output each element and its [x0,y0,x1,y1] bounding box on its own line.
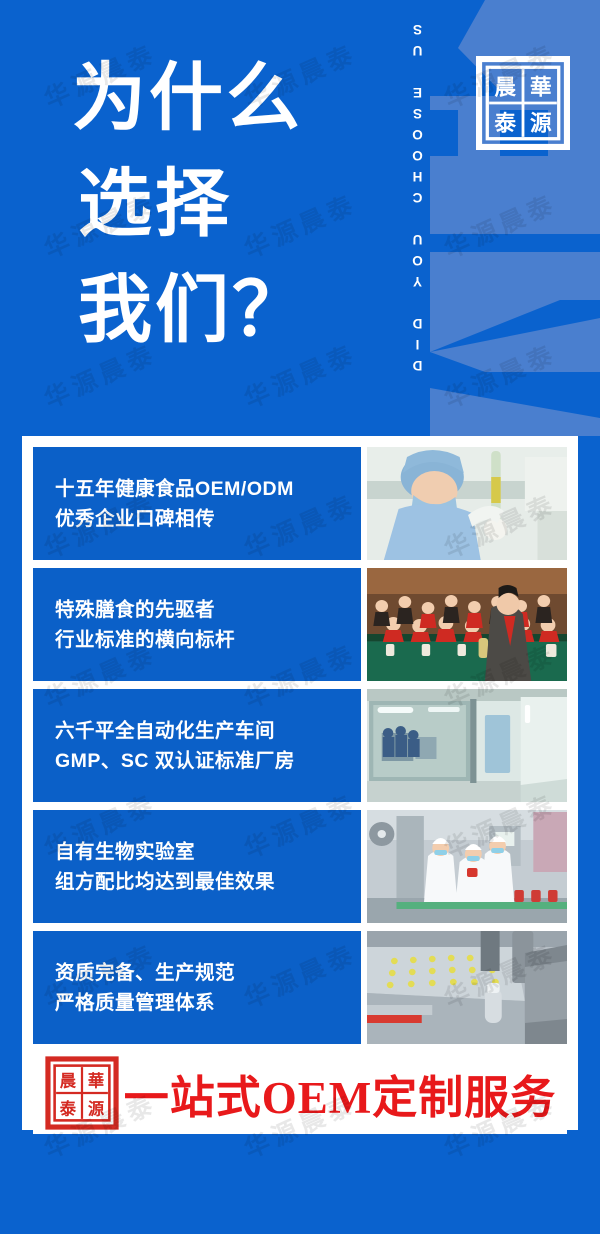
feature-line-2a: 特殊膳食的先驱者 [55,595,339,625]
brand-seal-icon: 晨 華 泰 源 [476,56,570,150]
cleanroom-corridor-photo [367,689,567,802]
footer-banner: 晨 華 泰 源 一站式OEM定制服务 [33,1052,567,1134]
features-panel: 十五年健康食品OEM/ODM 优秀企业口碑相传 [22,436,578,1130]
hero-section: 为什么 选择 我们？ DID YOU CHOOSE US 晨 華 泰 源 [0,0,600,436]
title-line-3: 我们？ [72,258,402,364]
feature-text-2: 特殊膳食的先驱者 行业标准的横向标杆 [33,568,361,681]
feature-text-5: 资质完备、生产规范 严格质量管理体系 [33,931,361,1044]
title-line-1: 为什么 [72,46,402,152]
page-title: 为什么 选择 我们？ [72,46,402,364]
production-line-staff-photo [367,810,567,923]
lab-technician-photo [367,447,567,560]
list-item[interactable]: 六千平全自动化生产车间 GMP、SC 双认证标准厂房 [33,689,567,802]
vertical-tagline-text: DID YOU CHOOSE US [410,16,425,373]
feature-text-4: 自有生物实验室 组方配比均达到最佳效果 [33,810,361,923]
vertical-tagline: DID YOU CHOOSE US [404,16,430,416]
list-item[interactable]: 十五年健康食品OEM/ODM 优秀企业口碑相传 [33,447,567,560]
svg-text:華: 華 [88,1071,104,1090]
list-item[interactable]: 特殊膳食的先驱者 行业标准的横向标杆 [33,568,567,681]
svg-text:泰: 泰 [494,111,516,135]
feature-line-5b: 严格质量管理体系 [55,988,339,1018]
tablet-packaging-machine-photo [367,931,567,1044]
features-list: 十五年健康食品OEM/ODM 优秀企业口碑相传 [33,447,567,1044]
svg-text:晨: 晨 [494,76,516,100]
svg-text:泰: 泰 [59,1099,77,1118]
svg-text:源: 源 [530,111,552,135]
feature-line-3b: GMP、SC 双认证标准厂房 [55,746,339,776]
footer-seal-icon: 晨 華 泰 源 [45,1056,119,1130]
feature-line-3a: 六千平全自动化生产车间 [55,716,339,746]
feature-line-2b: 行业标准的横向标杆 [55,625,339,655]
feature-text-1: 十五年健康食品OEM/ODM 优秀企业口碑相传 [33,447,361,560]
feature-line-4a: 自有生物实验室 [55,837,339,867]
svg-text:源: 源 [88,1099,105,1118]
svg-text:華: 華 [530,76,552,100]
list-item[interactable]: 自有生物实验室 组方配比均达到最佳效果 [33,810,567,923]
feature-line-5a: 资质完备、生产规范 [55,958,339,988]
svg-text:晨: 晨 [60,1071,77,1090]
conference-audience-photo [367,568,567,681]
feature-text-3: 六千平全自动化生产车间 GMP、SC 双认证标准厂房 [33,689,361,802]
list-item[interactable]: 资质完备、生产规范 严格质量管理体系 [33,931,567,1044]
feature-line-1b: 优秀企业口碑相传 [55,504,339,534]
feature-line-1a: 十五年健康食品OEM/ODM [55,474,339,504]
feature-line-4b: 组方配比均达到最佳效果 [55,867,339,897]
title-line-2: 选择 [72,152,402,258]
footer-slogan: 一站式OEM定制服务 [119,1061,567,1126]
